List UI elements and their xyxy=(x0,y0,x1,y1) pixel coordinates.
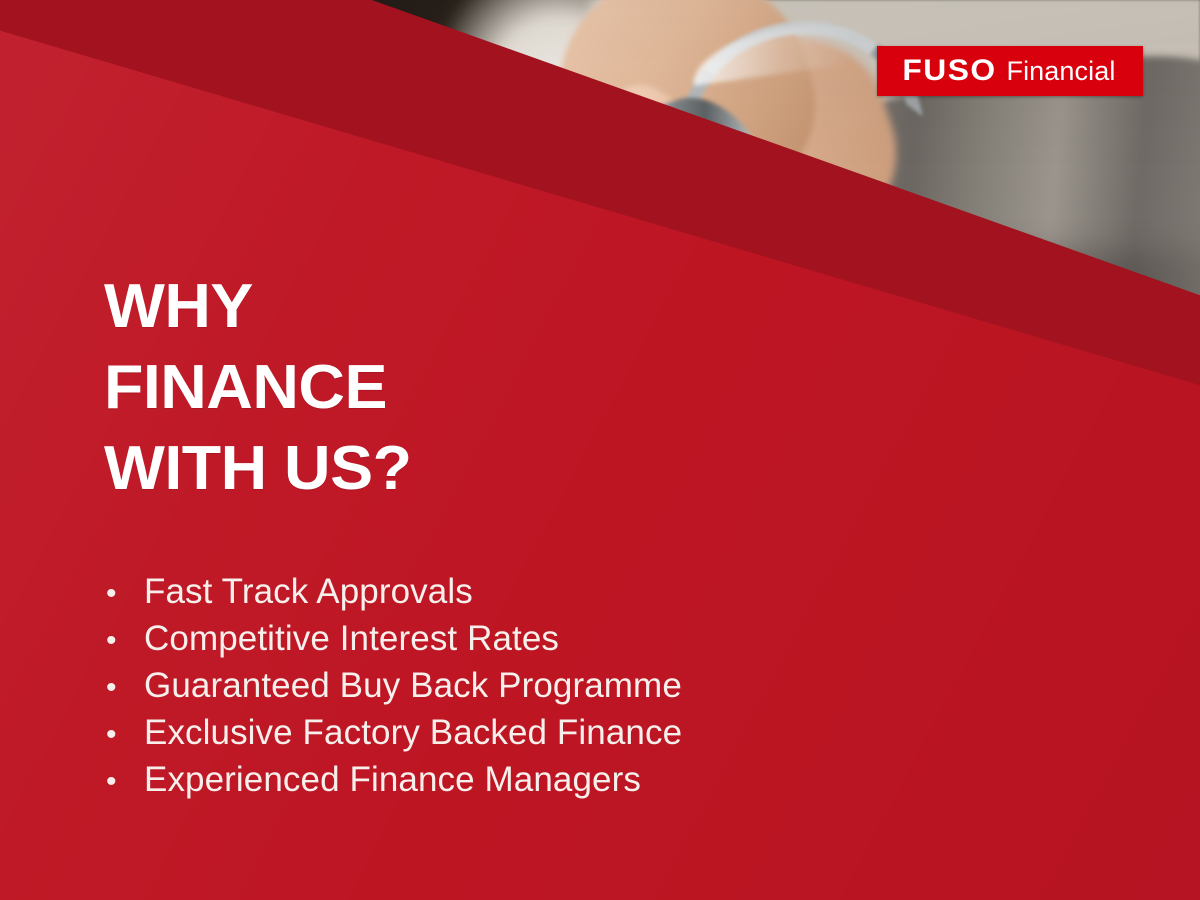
bullet-dot-icon: • xyxy=(106,617,144,664)
headline-line-1: WHY xyxy=(104,266,770,347)
list-item: • Guaranteed Buy Back Programme xyxy=(106,662,682,709)
bullet-dot-icon: • xyxy=(106,758,144,805)
list-item: • Exclusive Factory Backed Finance xyxy=(106,709,682,756)
bullet-dot-icon: • xyxy=(106,711,144,758)
poster-canvas: FUSO Financial WHY FINANCE WITH US? • Fa… xyxy=(0,0,1200,900)
list-item: • Competitive Interest Rates xyxy=(106,615,682,662)
list-item-label: Guaranteed Buy Back Programme xyxy=(144,662,682,709)
logo-wordmark-financial: Financial xyxy=(1006,58,1115,85)
list-item-label: Fast Track Approvals xyxy=(144,568,473,615)
headline-line-3: WITH US? xyxy=(104,428,770,509)
list-item: • Experienced Finance Managers xyxy=(106,756,682,803)
bullet-dot-icon: • xyxy=(106,570,144,617)
list-item-label: Experienced Finance Managers xyxy=(144,756,641,803)
list-item-label: Exclusive Factory Backed Finance xyxy=(144,709,682,756)
benefits-list: • Fast Track Approvals • Competitive Int… xyxy=(106,568,682,803)
page-title: WHY FINANCE WITH US? xyxy=(104,266,744,509)
bullet-dot-icon: • xyxy=(106,664,144,711)
logo-wordmark-fuso: FUSO xyxy=(902,56,996,86)
fuso-financial-logo[interactable]: FUSO Financial xyxy=(877,46,1143,96)
list-item: • Fast Track Approvals xyxy=(106,568,682,615)
list-item-label: Competitive Interest Rates xyxy=(144,615,559,662)
headline-line-2: FINANCE xyxy=(104,347,770,428)
